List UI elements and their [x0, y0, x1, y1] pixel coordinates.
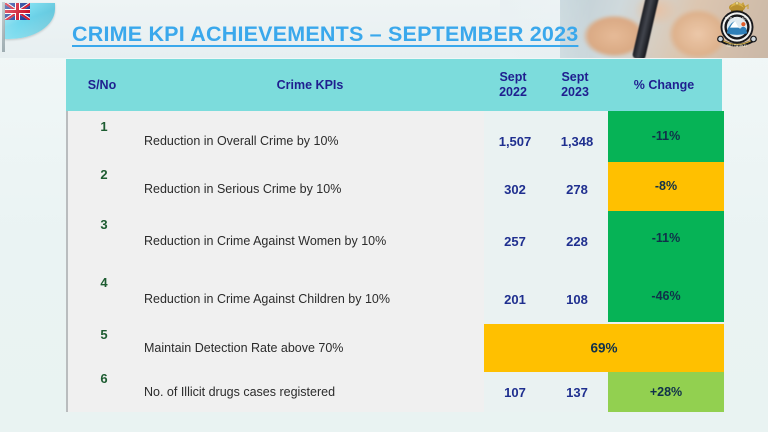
row-2022-1: 1,507: [484, 134, 546, 149]
row-2022-2: 302: [484, 182, 546, 197]
header-sept-2023-line2: 2023: [544, 85, 606, 100]
table-header-row: S/No Crime KPIs Sept 2022 Sept 2023 % Ch…: [66, 59, 722, 111]
row-kpi-5: Maintain Detection Rate above 70%: [140, 341, 484, 355]
table-row: 1 Reduction in Overall Crime by 10% 1,50…: [68, 119, 724, 163]
header-sno: S/No: [66, 78, 138, 92]
page-title: CRIME KPI ACHIEVEMENTS – SEPTEMBER 2023: [72, 22, 578, 47]
svg-text:REI TAUKEI: REI TAUKEI: [727, 44, 748, 48]
header-sept-2022: Sept 2022: [482, 70, 544, 100]
header-percent-change: % Change: [606, 78, 722, 92]
row-2022-6: 107: [484, 385, 546, 400]
row-kpi-4: Reduction in Crime Against Children by 1…: [140, 292, 484, 306]
row-2023-6: 137: [546, 385, 608, 400]
header-sept-2023-line1: Sept: [544, 70, 606, 85]
svg-text:FIJI POLICE: FIJI POLICE: [725, 17, 749, 21]
table-body: -11% -8% -11% -46% 69% +28% 1 Reduction …: [66, 111, 724, 412]
header-sept-2022-line1: Sept: [482, 70, 544, 85]
header-sept-2022-line2: 2022: [482, 85, 544, 100]
flag-cloth: [5, 3, 55, 39]
table-row: 2 Reduction in Serious Crime by 10% 302 …: [68, 167, 724, 211]
cross-red-v: [16, 3, 19, 20]
row-kpi-2: Reduction in Serious Crime by 10%: [140, 182, 484, 196]
table-row: 5 Maintain Detection Rate above 70%: [68, 327, 724, 369]
row-number-3: 3: [68, 217, 140, 232]
row-2023-2: 278: [546, 182, 608, 197]
row-number-6: 6: [68, 371, 140, 386]
fiji-flag-icon: [2, 2, 58, 52]
table-row: 4 Reduction in Crime Against Children by…: [68, 275, 724, 323]
row-2023-4: 108: [546, 292, 608, 307]
union-jack-canton: [5, 3, 30, 20]
row-number-2: 2: [68, 167, 140, 182]
kpi-table: S/No Crime KPIs Sept 2022 Sept 2023 % Ch…: [66, 59, 722, 412]
row-number-5: 5: [68, 327, 140, 342]
slide: FIJI POLICE REI TAUKEI CRIME KPI ACHIEVE…: [0, 0, 768, 432]
row-2023-3: 228: [546, 234, 608, 249]
table-row: 3 Reduction in Crime Against Women by 10…: [68, 217, 724, 265]
row-kpi-3: Reduction in Crime Against Women by 10%: [140, 234, 484, 248]
header-sept-2023: Sept 2023: [544, 70, 606, 100]
row-2023-1: 1,348: [546, 134, 608, 149]
row-2022-3: 257: [484, 234, 546, 249]
row-kpi-6: No. of Illicit drugs cases registered: [140, 385, 484, 399]
row-2022-4: 201: [484, 292, 546, 307]
row-number-1: 1: [68, 119, 140, 134]
table-row: 6 No. of Illicit drugs cases registered …: [68, 371, 724, 413]
row-kpi-1: Reduction in Overall Crime by 10%: [140, 134, 484, 148]
header-crime-kpis: Crime KPIs: [138, 78, 482, 92]
police-crest-icon: FIJI POLICE REI TAUKEI: [710, 1, 764, 55]
row-number-4: 4: [68, 275, 140, 290]
